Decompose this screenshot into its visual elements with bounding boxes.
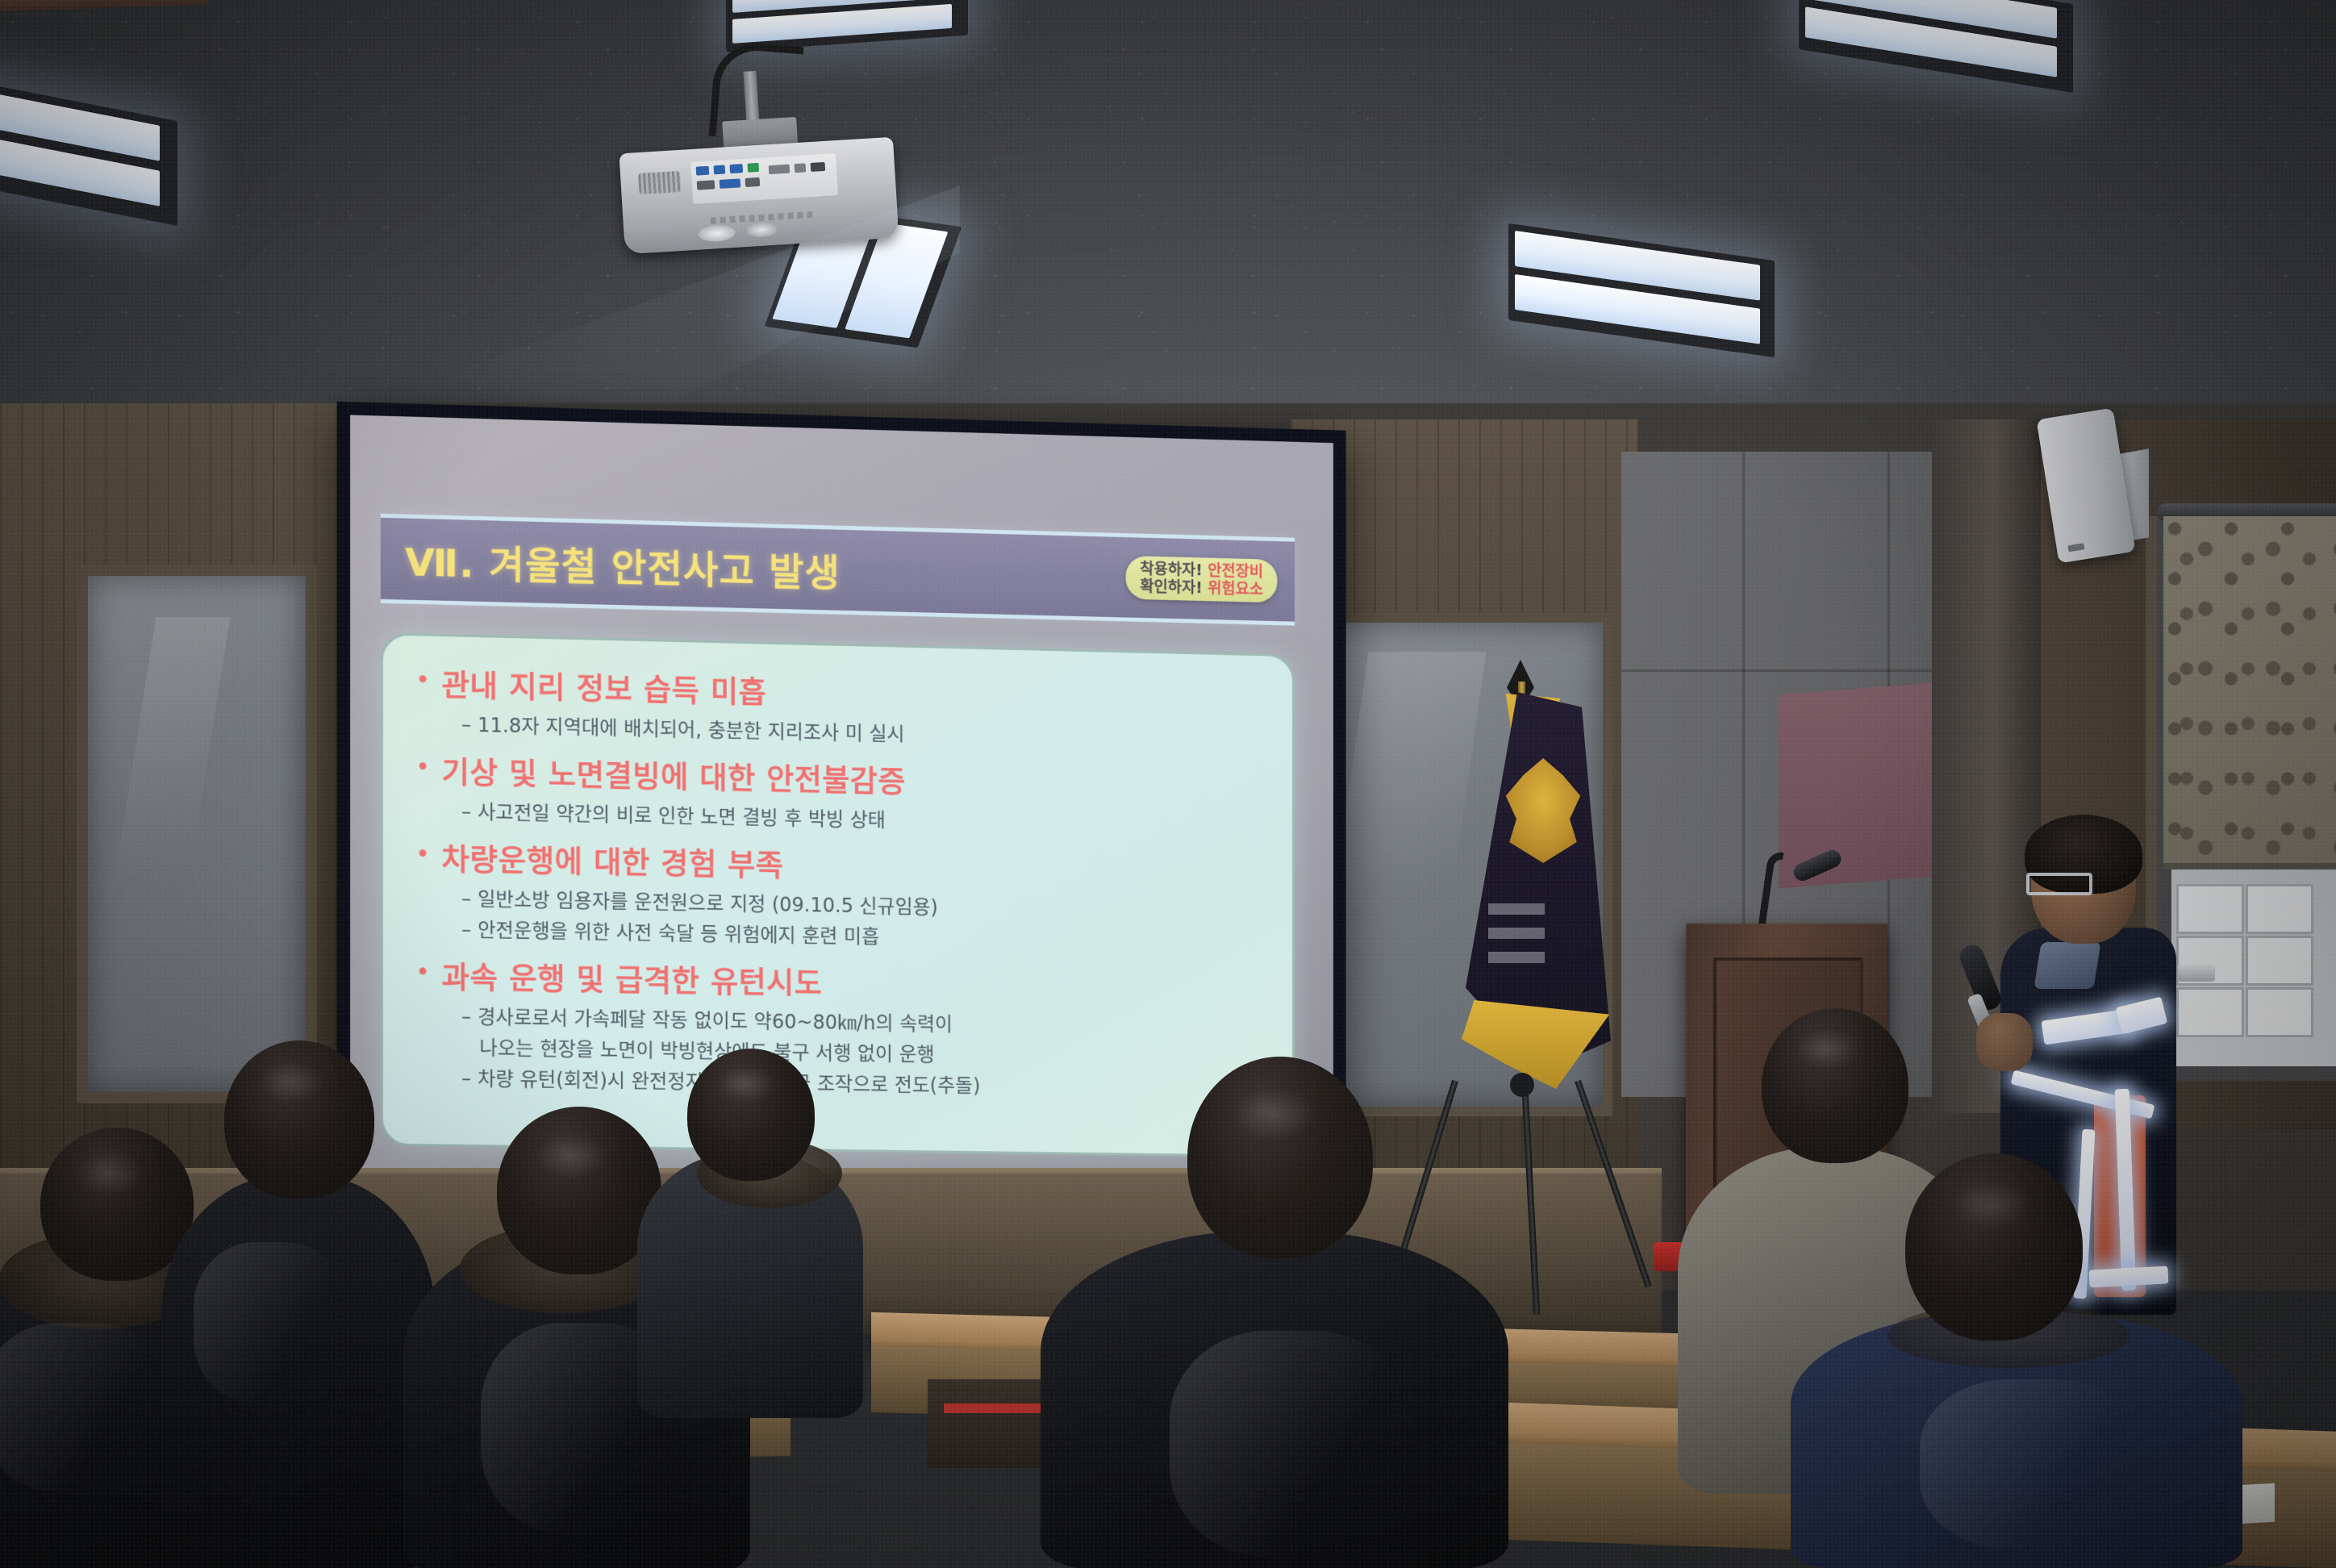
presenter-hand [1976,1013,2033,1071]
projector-lens [698,224,736,243]
audience-member-7 [1791,1153,2242,1568]
projector-speaker-grille [638,171,681,194]
slide-title-bar: Ⅶ. 겨울철 안전사고 발생 착용하자! 안전장비 확인하자! 위험요소 [380,514,1295,626]
glasses-icon [2026,873,2092,895]
bullet-heading: 기상 및 노면결빙에 대한 안전불감증 [441,748,905,801]
bullet-heading: 차량운행에 대한 경험 부족 [441,835,783,885]
audience-member-2 [161,1040,436,1568]
badge-line-1-dark: 착용하자! [1140,560,1202,579]
projector-lens-secondary [746,222,778,238]
bullet-dot-icon: • [415,843,430,868]
slide-safety-badge: 착용하자! 안전장비 확인하자! 위험요소 [1126,556,1278,603]
bullet-heading: 과속 운행 및 급격한 유턴시도 [441,953,822,1003]
badge-line-2-dark: 확인하자! [1140,578,1202,597]
tripod-hub [1510,1073,1534,1097]
audience-member-4 [637,1049,863,1420]
flag-lettering [1488,903,1545,976]
briefing-room-photo: Ⅶ. 겨울철 안전사고 발생 착용하자! 안전장비 확인하자! 위험요소 [0,0,2336,1568]
bullet-dot-icon: • [415,756,430,781]
badge-line-1-red: 안전장비 [1208,561,1263,581]
desk-red-strip [944,1403,1041,1413]
audience-member-5 [1041,1040,1508,1568]
bullet-heading: 관내 지리 정보 습득 미흡 [441,661,766,711]
badge-line-2: 확인하자! 위험요소 [1140,578,1263,598]
window-blind[interactable] [2163,516,2336,869]
bullet-dot-icon: • [415,669,430,694]
badge-line-2-red: 위험요소 [1208,579,1263,598]
projector-port-panel [690,153,838,204]
projector-body [619,137,899,255]
left-wall-panel [77,565,317,1103]
presenter-collar [2034,942,2100,989]
slide-title: Ⅶ. 겨울철 안전사고 발생 [405,531,841,598]
ceiling-projector [618,113,899,254]
bullet-dot-icon: • [415,961,430,986]
